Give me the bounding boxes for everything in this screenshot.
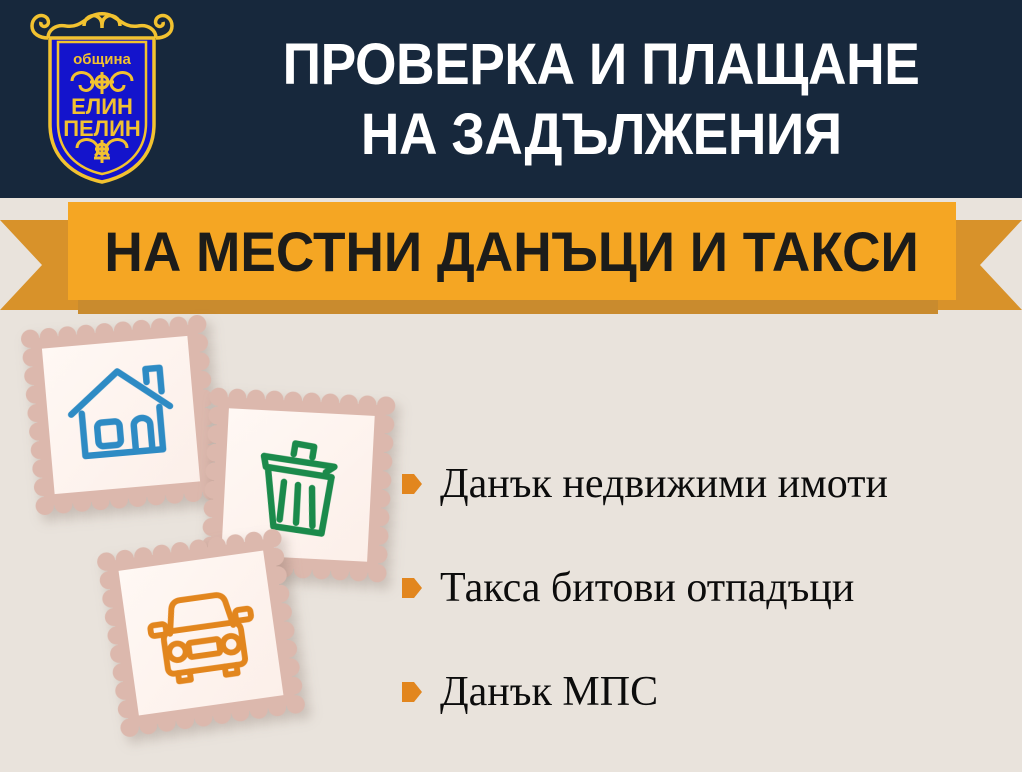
list-item-label: Данък МПС [440,669,658,715]
house-icon [57,351,185,479]
coat-of-arms-icon: община ЕЛИН ПЕЛИН [22,8,182,190]
stamp-card-house [20,314,222,516]
subtitle-ribbon: НА МЕСТНИ ДАНЪЦИ И ТАКСИ [0,198,1022,310]
bullet-arrow-icon [402,473,422,495]
list-item[interactable]: Такса битови отпадъци [402,536,1012,640]
page-title-line-2: НА ЗАДЪЛЖЕНИЯ [361,100,842,170]
list-item-label: Данък недвижими имоти [440,461,888,507]
ribbon-shadow [78,298,938,314]
trash-bin-icon [236,423,360,547]
page-title-line-1: ПРОВЕРКА И ПЛАЩАНЕ [283,30,920,100]
logo-obshtina-text: община [73,51,131,68]
ribbon-band: НА МЕСТНИ ДАНЪЦИ И ТАКСИ [68,202,956,300]
logo-line2-text: ПЕЛИН [63,116,141,141]
stamp-card-car [96,528,306,738]
list-item-label: Такса битови отпадъци [440,565,854,611]
list-item[interactable]: Данък МПС [402,640,1012,744]
poster-canvas: община ЕЛИН ПЕЛИН ПРОВЕРКА И ПЛАЩАНЕ НА … [0,0,1022,772]
page-title: ПРОВЕРКА И ПЛАЩАНЕ НА ЗАДЪЛЖЕНИЯ [186,14,1016,186]
tax-types-list: Данък недвижими имоти Такса битови отпад… [402,432,1012,744]
car-front-icon [134,566,267,699]
bullet-arrow-icon [402,577,422,599]
bullet-arrow-icon [402,681,422,703]
list-item[interactable]: Данък недвижими имоти [402,432,1012,536]
ribbon-label: НА МЕСТНИ ДАНЪЦИ И ТАКСИ [105,219,919,284]
municipality-logo: община ЕЛИН ПЕЛИН [22,8,182,190]
